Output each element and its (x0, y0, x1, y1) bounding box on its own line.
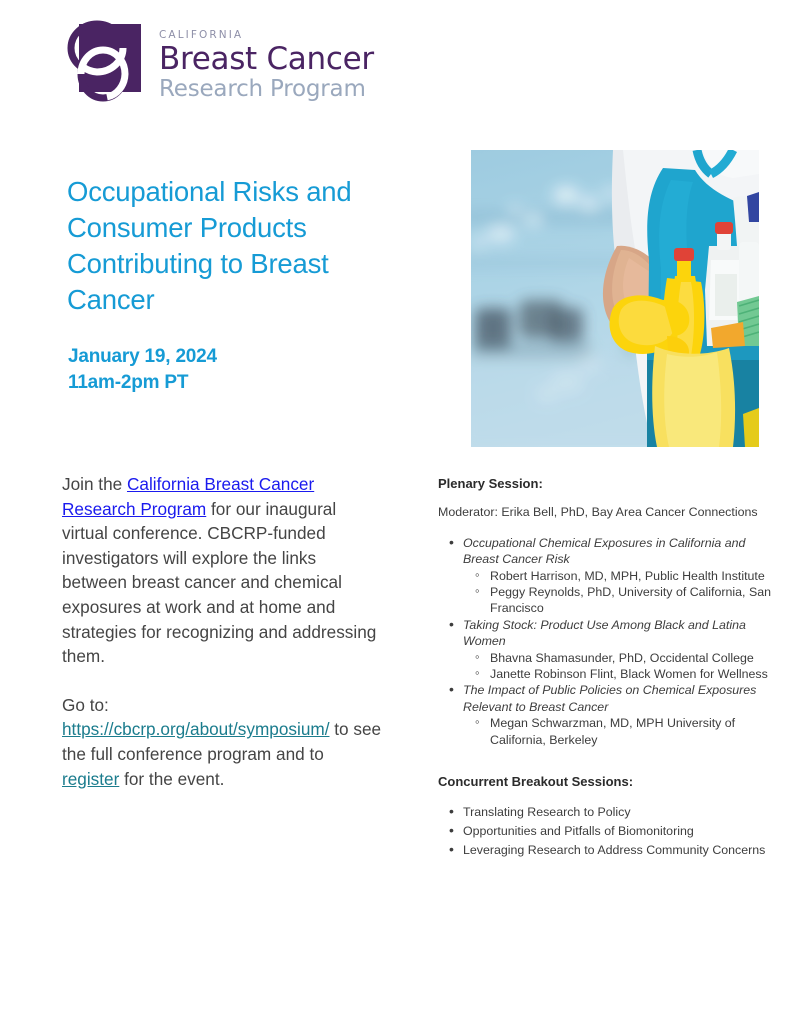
event-time: 11am-2pm PT (68, 370, 368, 396)
intro-body: Join the California Breast Cancer Resear… (62, 472, 384, 791)
intro-lead: Join the (62, 474, 127, 494)
logo-research-program-text: Research Program (159, 76, 389, 103)
plenary-item: Taking Stock: Product Use Among Black an… (463, 617, 774, 683)
plenary-heading: Plenary Session: (438, 476, 774, 492)
plenary-speaker-list: Robert Harrison, MD, MPH, Public Health … (463, 568, 774, 617)
page-title: Occupational Risks and Consumer Products… (67, 174, 397, 318)
goto-paragraph: Go to:https://cbcrp.org/about/symposium/… (62, 693, 384, 791)
intro-rest: for our inaugural virtual conference. CB… (62, 499, 376, 667)
symposium-url-link[interactable]: https://cbcrp.org/about/symposium/ (62, 719, 329, 739)
intro-paragraph: Join the California Breast Cancer Resear… (62, 472, 384, 669)
event-datetime: January 19, 2024 11am-2pm PT (68, 344, 368, 396)
plenary-session-list: Occupational Chemical Exposures in Calif… (438, 535, 774, 748)
plenary-item-title: Occupational Chemical Exposures in Calif… (463, 536, 745, 566)
plenary-speaker: Bhavna Shamasunder, PhD, Occidental Coll… (490, 650, 774, 666)
breakout-item: Leveraging Research to Address Community… (463, 842, 774, 858)
plenary-speaker: Peggy Reynolds, PhD, University of Calif… (490, 584, 774, 617)
plenary-speaker: Robert Harrison, MD, MPH, Public Health … (490, 568, 774, 584)
plenary-speaker: Janette Robinson Flint, Black Women for … (490, 666, 774, 682)
breakout-heading: Concurrent Breakout Sessions: (438, 774, 774, 790)
plenary-moderator: Moderator: Erika Bell, PhD, Bay Area Can… (438, 504, 774, 520)
register-link[interactable]: register (62, 769, 119, 789)
breakout-item: Opportunities and Pitfalls of Biomonitor… (463, 823, 774, 839)
breakout-item: Translating Research to Policy (463, 804, 774, 820)
plenary-item-title: Taking Stock: Product Use Among Black an… (463, 618, 746, 648)
cbcrp-ribbon-logo-icon (63, 18, 151, 104)
cleaning-worker-photo (471, 150, 759, 447)
plenary-item-title: The Impact of Public Policies on Chemica… (463, 683, 756, 713)
plenary-item: Occupational Chemical Exposures in Calif… (463, 535, 774, 617)
plenary-speaker-list: Bhavna Shamasunder, PhD, Occidental Coll… (463, 650, 774, 683)
program-column: Plenary Session: Moderator: Erika Bell, … (438, 476, 774, 862)
plenary-speaker-list: Megan Schwarzman, MD, MPH University of … (463, 715, 774, 748)
breakout-session-list: Translating Research to Policy Opportuni… (438, 804, 774, 859)
logo-california-text: CALIFORNIA (159, 16, 389, 42)
plenary-speaker: Megan Schwarzman, MD, MPH University of … (490, 715, 774, 748)
event-date: January 19, 2024 (68, 344, 368, 370)
logo-breast-cancer-text: Breast Cancer (159, 42, 389, 76)
goto-tail: for the event. (119, 769, 224, 789)
plenary-item: The Impact of Public Policies on Chemica… (463, 682, 774, 748)
goto-lead: Go to: (62, 695, 109, 715)
cbcrp-logo: CALIFORNIA Breast Cancer Research Progra… (63, 16, 393, 108)
